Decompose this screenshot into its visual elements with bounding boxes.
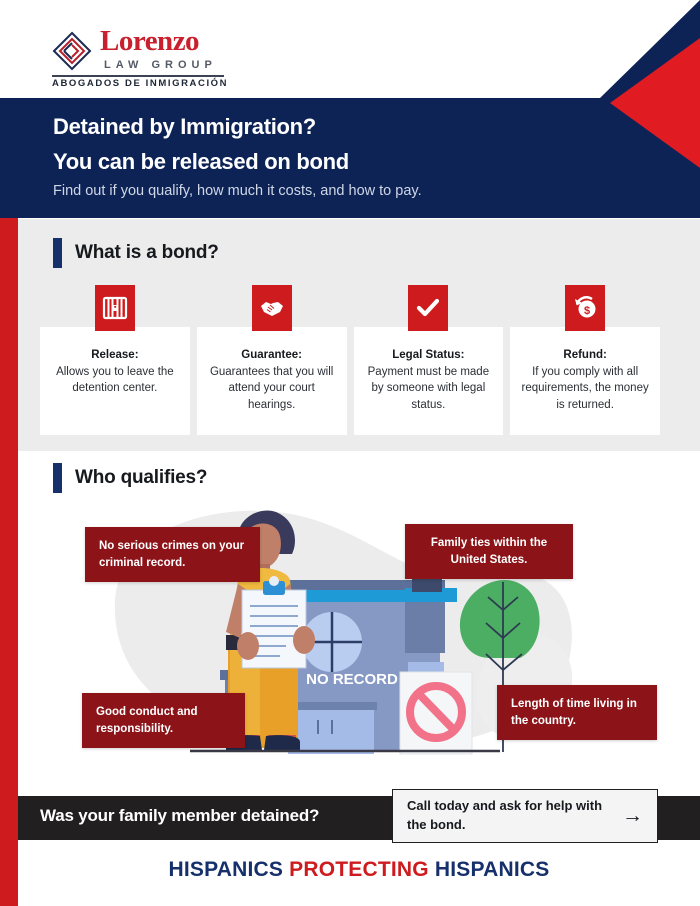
brand-logo[interactable]: Lorenzo LAW GROUP ABOGADOS DE INMIGRACIÓ… <box>52 27 232 89</box>
left-red-stripe <box>0 218 18 906</box>
bond-section-heading: What is a bond? <box>53 238 219 268</box>
footer-word-1: HISPANICS <box>169 858 284 881</box>
heading-accent-bar <box>53 238 62 268</box>
header-title-line2: You can be released on bond <box>53 149 349 175</box>
infographic-page: Lorenzo LAW GROUP ABOGADOS DE INMIGRACIÓ… <box>0 0 700 906</box>
header-title-line1: Detained by Immigration? <box>53 114 316 140</box>
cta-question: Was your family member detained? <box>40 806 319 826</box>
bond-card-text: Payment must be made by someone with leg… <box>362 364 496 413</box>
checkmark-icon <box>408 285 448 331</box>
callout-good-conduct: Good conduct and responsibility. <box>82 693 245 748</box>
svg-text:$: $ <box>584 305 590 317</box>
logo-name: Lorenzo <box>100 27 199 56</box>
logo-subtitle: LAW GROUP <box>104 59 217 71</box>
bond-card-text: Guarantees that you will attend your cou… <box>205 364 339 413</box>
bond-card-title: Guarantee: <box>205 349 339 361</box>
header-subtitle: Find out if you qualify, how much it cos… <box>53 183 422 199</box>
bond-card: Release: Allows you to leave the detenti… <box>40 327 190 435</box>
bond-card-text: If you comply with all requirements, the… <box>518 364 652 413</box>
logo-divider <box>52 75 224 77</box>
bond-card-title: Refund: <box>518 349 652 361</box>
bond-card-title: Legal Status: <box>362 349 496 361</box>
bond-card-list: Release: Allows you to leave the detenti… <box>40 327 660 435</box>
bond-card-text: Allows you to leave the detention center… <box>48 364 182 397</box>
callout-no-crimes: No serious crimes on your criminal recor… <box>85 527 260 582</box>
callout-family-ties: Family ties within the United States. <box>405 524 573 579</box>
logo-tagline: ABOGADOS DE INMIGRACIÓN <box>52 78 228 89</box>
shoe-right <box>264 735 300 750</box>
diamond-chevron-mark-icon <box>52 31 96 71</box>
bond-card: $ Refund: If you comply with all require… <box>510 327 660 435</box>
prohibition-sign <box>400 672 472 754</box>
footer-word-2: PROTECTING <box>289 858 429 881</box>
cta-box-text: Call today and ask for help with the bon… <box>407 797 616 835</box>
bond-card-title: Release: <box>48 349 182 361</box>
handshake-icon <box>252 285 292 331</box>
bond-heading-text: What is a bond? <box>75 242 219 264</box>
footer-tagline: HISPANICS PROTECTING HISPANICS <box>18 858 700 882</box>
bond-card: Guarantee: Guarantees that you will atte… <box>197 327 347 435</box>
arrow-right-icon: → <box>622 804 643 828</box>
bond-card: Legal Status: Payment must be made by so… <box>354 327 504 435</box>
footer-word-3: HISPANICS <box>435 858 550 881</box>
jail-bars-icon <box>95 285 135 331</box>
cta-call-button[interactable]: Call today and ask for help with the bon… <box>392 789 658 843</box>
no-record-label: NO RECORD <box>306 671 398 688</box>
callout-length-of-time: Length of time living in the country. <box>497 685 657 740</box>
header: Lorenzo LAW GROUP ABOGADOS DE INMIGRACIÓ… <box>0 0 700 218</box>
money-refund-icon: $ <box>565 285 605 331</box>
